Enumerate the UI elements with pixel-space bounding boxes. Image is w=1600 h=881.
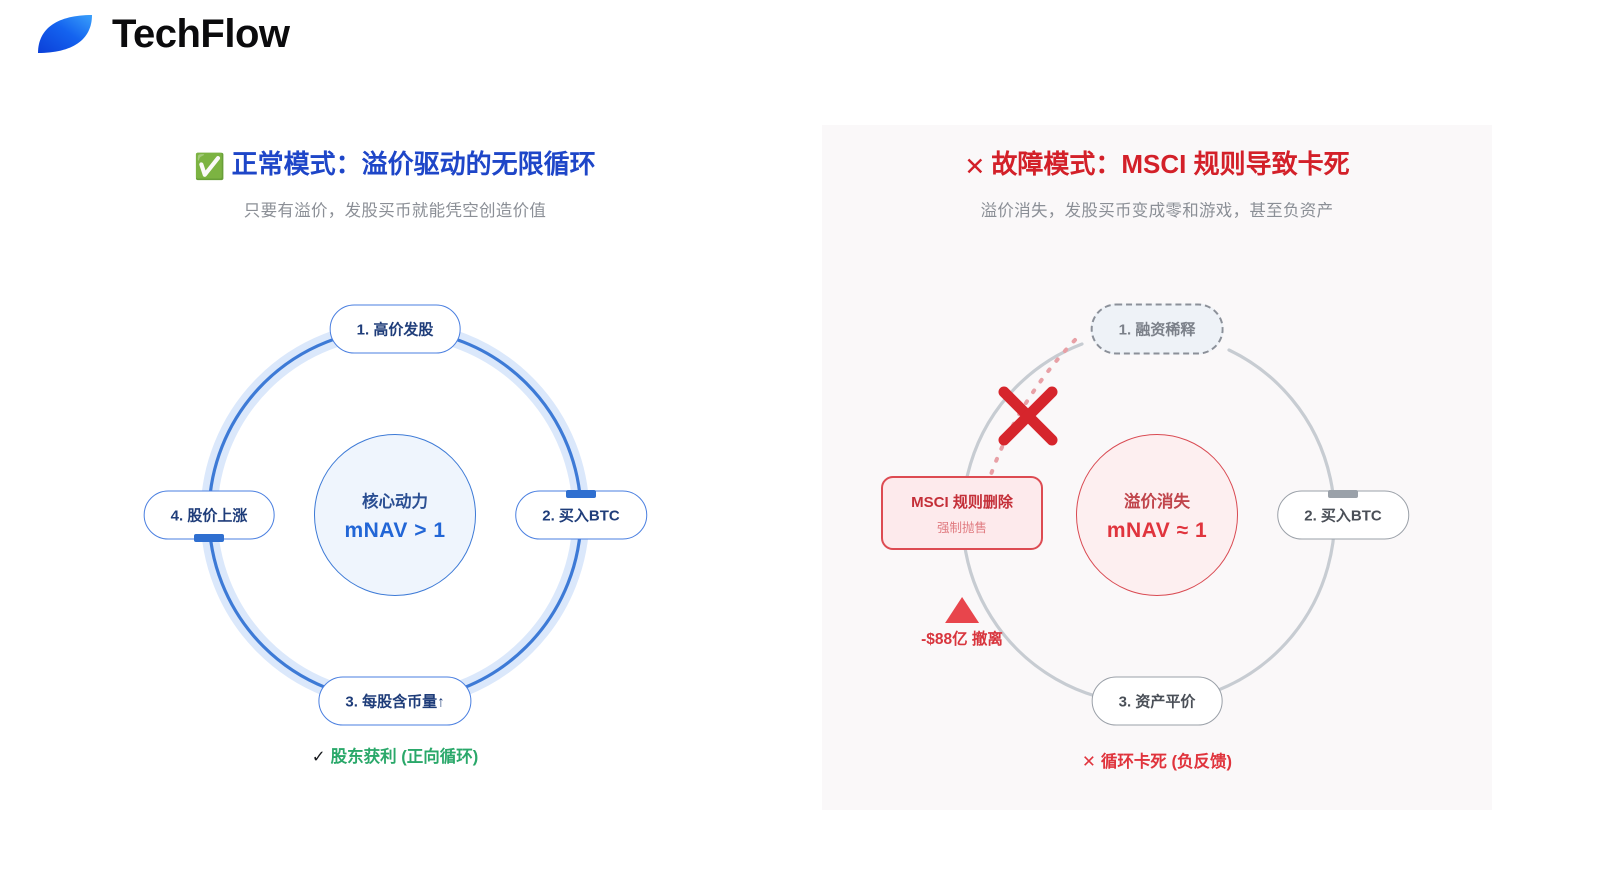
outflow-amount-label: -$88亿 撤离 xyxy=(921,627,1003,649)
panel-normal-footer: ✓股东获利 (正向循环) xyxy=(60,743,730,767)
panel-normal-mode: ✅正常模式：溢价驱动的无限循环 只要有溢价，发股买币就能凭空创造价值 核心动力 … xyxy=(60,125,730,810)
panel-failure-footer-text: 循环卡死 (负反馈) xyxy=(1101,753,1232,771)
brand-header: TechFlow xyxy=(34,8,289,60)
msci-rule-removal-callout[interactable]: MSCI 规则删除 强制抛售 xyxy=(881,476,1043,550)
panel-normal-subtitle: 只要有溢价，发股买币就能凭空创造价值 xyxy=(60,197,730,221)
panel-failure-title: ✕故障模式：MSCI 规则导致卡死 xyxy=(822,149,1492,182)
brand-name: TechFlow xyxy=(112,14,289,54)
center-metric-label: 溢价消失 xyxy=(1124,488,1190,512)
panel-failure-title-text: 故障模式：MSCI 规则导致卡死 xyxy=(991,149,1349,179)
center-metric-normal: 核心动力 mNAV > 1 xyxy=(314,434,476,596)
msci-callout-subtitle: 强制抛售 xyxy=(903,517,1021,536)
cycle-node-4-share-price-up[interactable]: 4. 股价上涨 xyxy=(144,491,275,540)
broken-link-x-icon xyxy=(994,382,1062,450)
cycle-node-3-asset-parity[interactable]: 3. 资产平价 xyxy=(1092,677,1223,726)
check-icon: ✓ xyxy=(312,748,326,766)
outflow-triangle-icon xyxy=(945,597,979,623)
techflow-leaf-logo-icon xyxy=(34,8,96,60)
panel-normal-title: ✅正常模式：溢价驱动的无限循环 xyxy=(60,149,730,182)
check-badge-icon: ✅ xyxy=(194,153,225,181)
cross-mark-icon: ✕ xyxy=(964,153,985,181)
center-metric-failure: 溢价消失 mNAV ≈ 1 xyxy=(1076,434,1238,596)
msci-callout-title: MSCI 规则删除 xyxy=(903,491,1021,512)
panel-failure-footer: ✕循环卡死 (负反馈) xyxy=(822,748,1492,772)
cross-icon: ✕ xyxy=(1082,753,1096,771)
cycle-node-3-btc-per-share[interactable]: 3. 每股含币量↑ xyxy=(318,677,471,726)
panel-normal-footer-text: 股东获利 (正向循环) xyxy=(331,748,479,766)
center-metric-label: 核心动力 xyxy=(362,488,428,512)
ring-arrow-marker-left xyxy=(194,534,224,542)
panel-failure-subtitle: 溢价消失，发股买币变成零和游戏，甚至负资产 xyxy=(822,197,1492,221)
diagram-failure-cycle: 溢价消失 mNAV ≈ 1 1. 融资稀释 2. 买入BTC 3. 资产平价 M… xyxy=(877,280,1437,750)
cycle-node-1-financing-dilution[interactable]: 1. 融资稀释 xyxy=(1091,304,1224,355)
center-metric-value: mNAV ≈ 1 xyxy=(1107,519,1207,543)
ring-arrow-marker-right xyxy=(566,490,596,498)
center-metric-value: mNAV > 1 xyxy=(344,519,445,543)
panel-normal-title-text: 正常模式：溢价驱动的无限循环 xyxy=(232,149,596,179)
capital-outflow-indicator: -$88亿 撤离 xyxy=(921,597,1003,649)
diagram-normal-cycle: 核心动力 mNAV > 1 1. 高价发股 2. 买入BTC 3. 每股含币量↑… xyxy=(115,280,675,750)
ring-arrow-marker-right xyxy=(1328,490,1358,498)
cycle-node-1-issue-shares[interactable]: 1. 高价发股 xyxy=(330,305,461,354)
panel-failure-mode: ✕故障模式：MSCI 规则导致卡死 溢价消失，发股买币变成零和游戏，甚至负资产 … xyxy=(822,125,1492,810)
